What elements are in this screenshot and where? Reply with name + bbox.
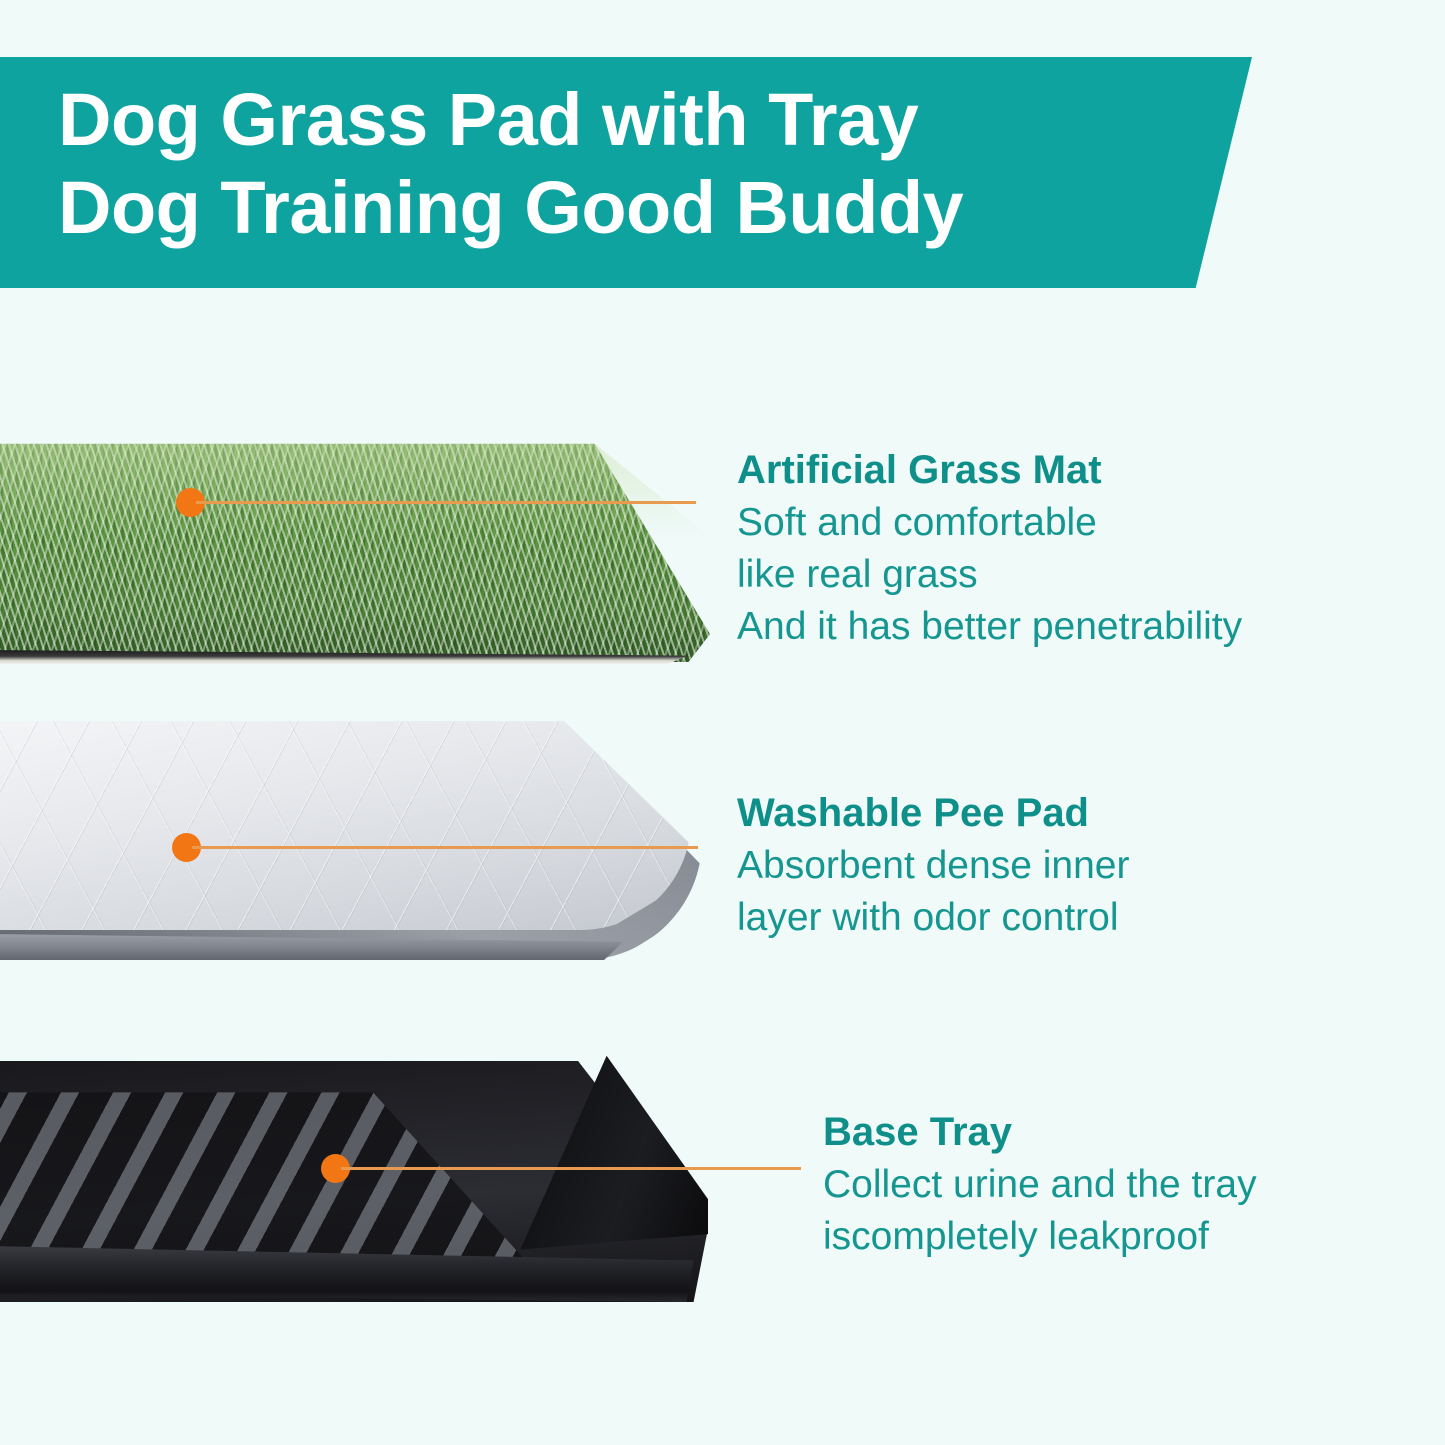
callout-body-line: Collect urine and the tray [823,1159,1257,1211]
base-tray-photo [0,1040,708,1302]
callout-line-washable-pee-pad [192,846,698,849]
callout-body-line: And it has better penetrability [737,601,1242,653]
callout-text-base-tray: Base Tray Collect urine and the tray isc… [823,1105,1257,1263]
callout-body-line: like real grass [737,549,1242,601]
callout-text-washable-pee-pad: Washable Pee Pad Absorbent dense inner l… [737,786,1129,944]
washable-pee-pad-photo [0,712,702,960]
artificial-grass-mat-photo [0,430,710,662]
callout-title-washable-pee-pad: Washable Pee Pad [737,786,1129,840]
callout-body-line: Soft and comfortable [737,497,1242,549]
callout-body-line: Absorbent dense inner [737,840,1129,892]
header-title: Dog Grass Pad with Tray Dog Training Goo… [58,76,1178,252]
callout-title-base-tray: Base Tray [823,1105,1257,1159]
callout-line-artificial-grass-mat [196,501,696,504]
header-title-line-2: Dog Training Good Buddy [58,164,1178,252]
grass-surface [0,430,710,662]
callout-line-base-tray [341,1167,801,1170]
callout-body-line: iscompletely leakproof [823,1211,1257,1263]
header-title-line-1: Dog Grass Pad with Tray [58,76,1178,164]
pee-pad-quilted-surface [0,717,691,930]
callout-title-artificial-grass-mat: Artificial Grass Mat [737,443,1242,497]
callout-body-line: layer with odor control [737,892,1129,944]
product-infographic: Dog Grass Pad with Tray Dog Training Goo… [0,0,1445,1445]
callout-text-artificial-grass-mat: Artificial Grass Mat Soft and comfortabl… [737,443,1242,653]
